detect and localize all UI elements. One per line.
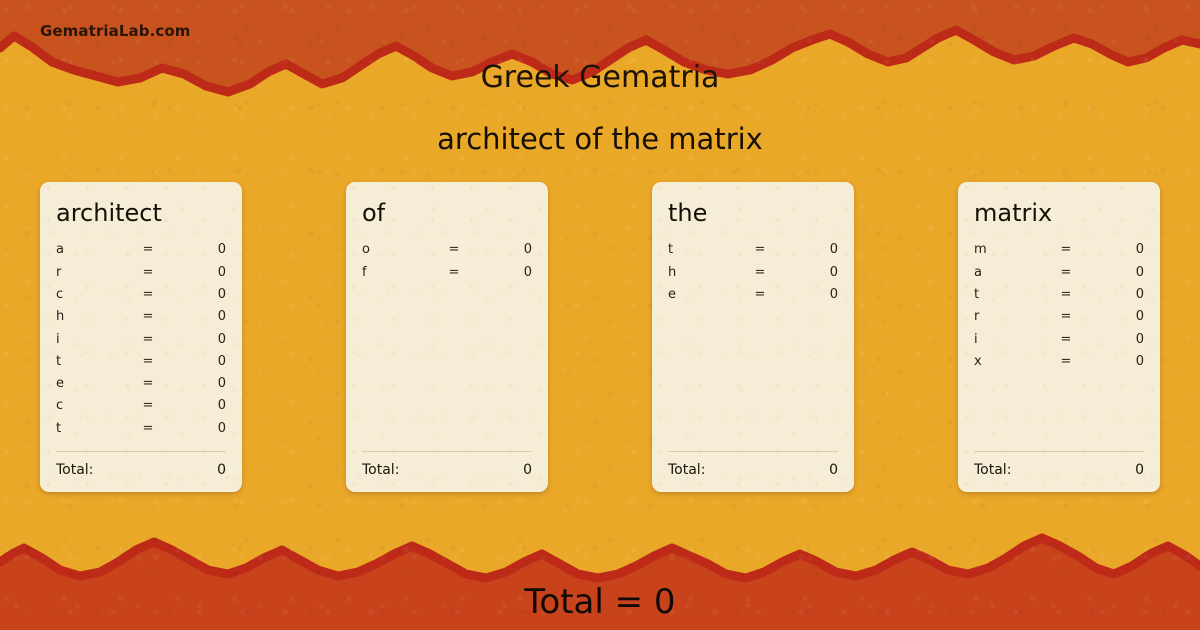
card-total-row: Total:0 bbox=[362, 462, 532, 478]
letter-value: 0 bbox=[162, 332, 226, 347]
letter-value-list: o=0f=0 bbox=[362, 242, 532, 451]
letter-value: 0 bbox=[468, 265, 532, 280]
letter-value: 0 bbox=[162, 421, 226, 436]
card-total-row: Total:0 bbox=[56, 462, 226, 478]
equals-sign: = bbox=[134, 287, 162, 302]
letter-row: a=0 bbox=[56, 242, 226, 264]
equals-sign: = bbox=[1052, 265, 1080, 280]
letter-value: 0 bbox=[162, 354, 226, 369]
card-divider bbox=[668, 451, 838, 452]
word-card-matrix[interactable]: matrixm=0a=0t=0r=0i=0x=0Total:0 bbox=[958, 182, 1160, 492]
word-card-the[interactable]: thet=0h=0e=0Total:0 bbox=[652, 182, 854, 492]
letter-char: i bbox=[974, 332, 1052, 347]
letter-char: m bbox=[974, 242, 1052, 257]
equals-sign: = bbox=[746, 242, 774, 257]
letter-char: t bbox=[668, 242, 746, 257]
letter-value: 0 bbox=[162, 309, 226, 324]
letter-value: 0 bbox=[468, 242, 532, 257]
equals-sign: = bbox=[1052, 354, 1080, 369]
letter-row: h=0 bbox=[668, 265, 838, 287]
letter-char: i bbox=[56, 332, 134, 347]
letter-char: t bbox=[56, 354, 134, 369]
card-total-label: Total: bbox=[668, 462, 705, 478]
letter-char: a bbox=[974, 265, 1052, 280]
letter-row: i=0 bbox=[974, 332, 1144, 354]
word-cards-row: architecta=0r=0c=0h=0i=0t=0e=0c=0t=0Tota… bbox=[40, 182, 1160, 492]
equals-sign: = bbox=[134, 242, 162, 257]
letter-value: 0 bbox=[774, 287, 838, 302]
letter-row: x=0 bbox=[974, 354, 1144, 376]
letter-value-list: a=0r=0c=0h=0i=0t=0e=0c=0t=0 bbox=[56, 242, 226, 451]
letter-value: 0 bbox=[774, 242, 838, 257]
equals-sign: = bbox=[134, 376, 162, 391]
letter-row: t=0 bbox=[668, 242, 838, 264]
letter-char: c bbox=[56, 398, 134, 413]
page-subtitle: architect of the matrix bbox=[0, 122, 1200, 156]
letter-value-list: t=0h=0e=0 bbox=[668, 242, 838, 451]
letter-char: r bbox=[974, 309, 1052, 324]
letter-row: h=0 bbox=[56, 309, 226, 331]
letter-value: 0 bbox=[1080, 287, 1144, 302]
card-total-value: 0 bbox=[523, 462, 532, 478]
letter-row: c=0 bbox=[56, 398, 226, 420]
card-divider bbox=[56, 451, 226, 452]
letter-value: 0 bbox=[162, 242, 226, 257]
equals-sign: = bbox=[134, 354, 162, 369]
equals-sign: = bbox=[1052, 332, 1080, 347]
equals-sign: = bbox=[134, 398, 162, 413]
letter-value: 0 bbox=[162, 287, 226, 302]
letter-value: 0 bbox=[162, 376, 226, 391]
card-title: matrix bbox=[974, 200, 1144, 226]
page-title: Greek Gematria bbox=[0, 60, 1200, 95]
equals-sign: = bbox=[440, 265, 468, 280]
letter-row: e=0 bbox=[668, 287, 838, 309]
letter-char: e bbox=[56, 376, 134, 391]
letter-value: 0 bbox=[1080, 354, 1144, 369]
letter-row: r=0 bbox=[56, 265, 226, 287]
equals-sign: = bbox=[440, 242, 468, 257]
equals-sign: = bbox=[1052, 309, 1080, 324]
letter-value: 0 bbox=[1080, 242, 1144, 257]
card-total-label: Total: bbox=[362, 462, 399, 478]
letter-row: a=0 bbox=[974, 265, 1144, 287]
letter-char: h bbox=[56, 309, 134, 324]
card-title: the bbox=[668, 200, 838, 226]
card-total-value: 0 bbox=[217, 462, 226, 478]
equals-sign: = bbox=[134, 421, 162, 436]
card-total-row: Total:0 bbox=[974, 462, 1144, 478]
card-total-label: Total: bbox=[974, 462, 1011, 478]
card-divider bbox=[362, 451, 532, 452]
letter-value: 0 bbox=[1080, 332, 1144, 347]
equals-sign: = bbox=[1052, 242, 1080, 257]
letter-row: t=0 bbox=[974, 287, 1144, 309]
equals-sign: = bbox=[1052, 287, 1080, 302]
equals-sign: = bbox=[746, 287, 774, 302]
letter-value: 0 bbox=[1080, 309, 1144, 324]
grand-total: Total = 0 bbox=[0, 582, 1200, 622]
equals-sign: = bbox=[134, 265, 162, 280]
letter-char: a bbox=[56, 242, 134, 257]
equals-sign: = bbox=[134, 309, 162, 324]
letter-row: r=0 bbox=[974, 309, 1144, 331]
card-title: of bbox=[362, 200, 532, 226]
letter-char: r bbox=[56, 265, 134, 280]
letter-char: x bbox=[974, 354, 1052, 369]
letter-row: f=0 bbox=[362, 265, 532, 287]
letter-row: e=0 bbox=[56, 376, 226, 398]
letter-row: o=0 bbox=[362, 242, 532, 264]
letter-row: t=0 bbox=[56, 354, 226, 376]
equals-sign: = bbox=[134, 332, 162, 347]
letter-row: i=0 bbox=[56, 332, 226, 354]
card-total-label: Total: bbox=[56, 462, 93, 478]
letter-char: h bbox=[668, 265, 746, 280]
letter-row: m=0 bbox=[974, 242, 1144, 264]
letter-char: e bbox=[668, 287, 746, 302]
letter-char: c bbox=[56, 287, 134, 302]
card-total-row: Total:0 bbox=[668, 462, 838, 478]
card-total-value: 0 bbox=[829, 462, 838, 478]
equals-sign: = bbox=[746, 265, 774, 280]
letter-value: 0 bbox=[774, 265, 838, 280]
letter-row: t=0 bbox=[56, 421, 226, 443]
letter-char: t bbox=[56, 421, 134, 436]
letter-value: 0 bbox=[162, 265, 226, 280]
word-card-architect[interactable]: architecta=0r=0c=0h=0i=0t=0e=0c=0t=0Tota… bbox=[40, 182, 242, 492]
letter-value-list: m=0a=0t=0r=0i=0x=0 bbox=[974, 242, 1144, 451]
letter-char: f bbox=[362, 265, 440, 280]
letter-value: 0 bbox=[1080, 265, 1144, 280]
word-card-of[interactable]: ofo=0f=0Total:0 bbox=[346, 182, 548, 492]
card-divider bbox=[974, 451, 1144, 452]
letter-row: c=0 bbox=[56, 287, 226, 309]
letter-char: o bbox=[362, 242, 440, 257]
card-title: architect bbox=[56, 200, 226, 226]
letter-value: 0 bbox=[162, 398, 226, 413]
site-logo[interactable]: GematriaLab.com bbox=[40, 22, 191, 40]
letter-char: t bbox=[974, 287, 1052, 302]
card-total-value: 0 bbox=[1135, 462, 1144, 478]
